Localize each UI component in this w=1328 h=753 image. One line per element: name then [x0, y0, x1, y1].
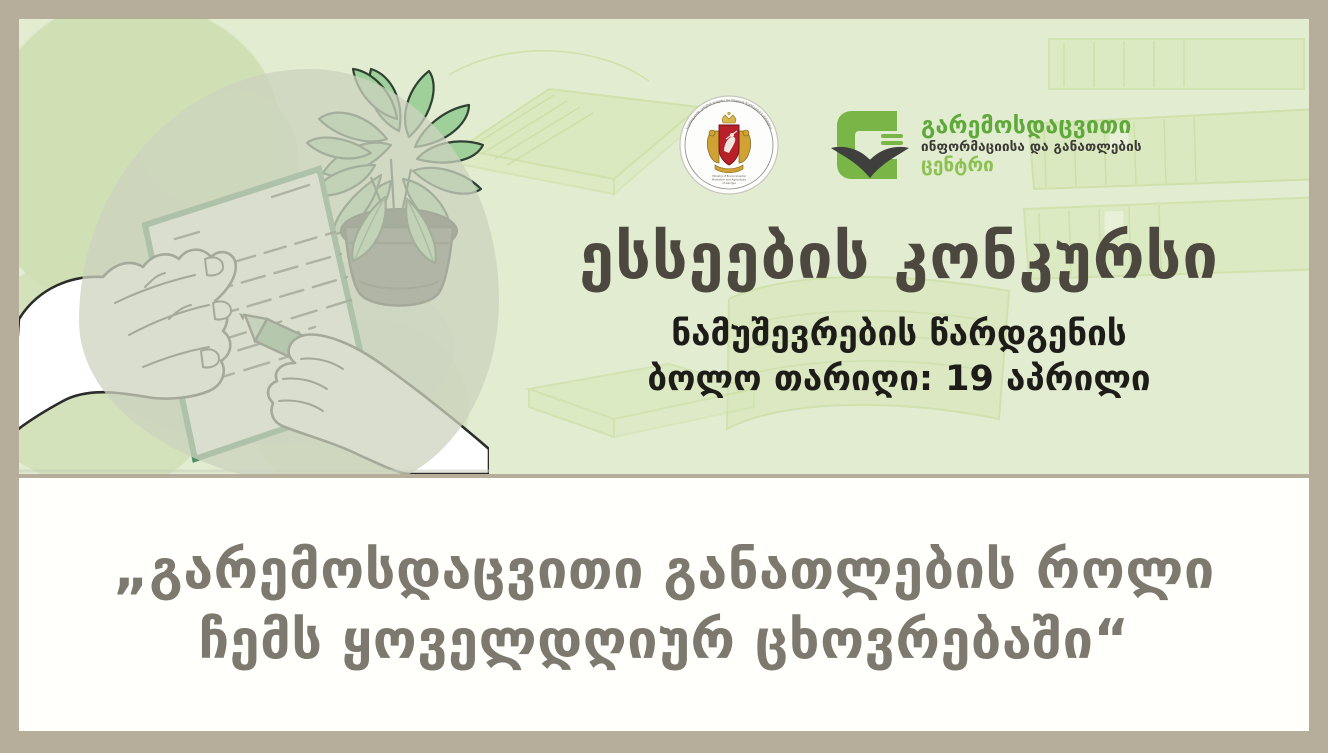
logos-row: საქართველოს გარემოს დაცვისა და სოფლის მე…	[679, 85, 1199, 205]
svg-text:Protection and Agriculture: Protection and Agriculture	[712, 178, 746, 182]
quote-line-2: ჩემს ყოველდღიურ ცხოვრებაში“	[198, 605, 1129, 674]
deadline-line-1: ნამუშევრების წარდგენის	[489, 312, 1309, 357]
deadline-line-2: ბოლო თარიღი: 19 აპრილი	[489, 357, 1309, 402]
center-logo-line3: ცენტრი	[921, 156, 1142, 176]
center-logo-line2: ინფორმაციისა და განათლების	[921, 140, 1142, 154]
svg-text:of Georgia: of Georgia	[722, 181, 736, 185]
banner-background: საქართველოს გარემოს დაცვისა და სოფლის მე…	[19, 19, 1309, 474]
banner-headings: ესსეების კონკურსი ნამუშევრების წარდგენის…	[489, 224, 1309, 402]
center-logo: გარემოსდაცვითი ინფორმაციისა და განათლები…	[829, 104, 1142, 186]
center-logo-text: გარემოსდაცვითი ინფორმაციისა და განათლები…	[921, 114, 1142, 176]
open-book-logo-icon	[829, 104, 911, 186]
illustration-hands-writing	[19, 19, 489, 474]
top-green-banner: საქართველოს გარემოს დაცვისა და სოფლის მე…	[19, 19, 1309, 474]
ministry-seal-icon: საქართველოს გარემოს დაცვისა და სოფლის მე…	[679, 95, 779, 195]
quote-panel: „გარემოსდაცვითი განათლების როლი ჩემს ყოვ…	[19, 478, 1309, 731]
deadline-block: ნამუშევრების წარდგენის ბოლო თარიღი: 19 ა…	[489, 312, 1309, 402]
quote-line-1: „გარემოსდაცვითი განათლების როლი	[113, 535, 1215, 604]
page-title: ესსეების კონკურსი	[489, 224, 1309, 290]
svg-text:Ministry of Environmental: Ministry of Environmental	[712, 174, 746, 178]
poster-root: საქართველოს გარემოს დაცვისა და სოფლის მე…	[0, 0, 1328, 753]
center-logo-line1: გარემოსდაცვითი	[921, 114, 1142, 138]
